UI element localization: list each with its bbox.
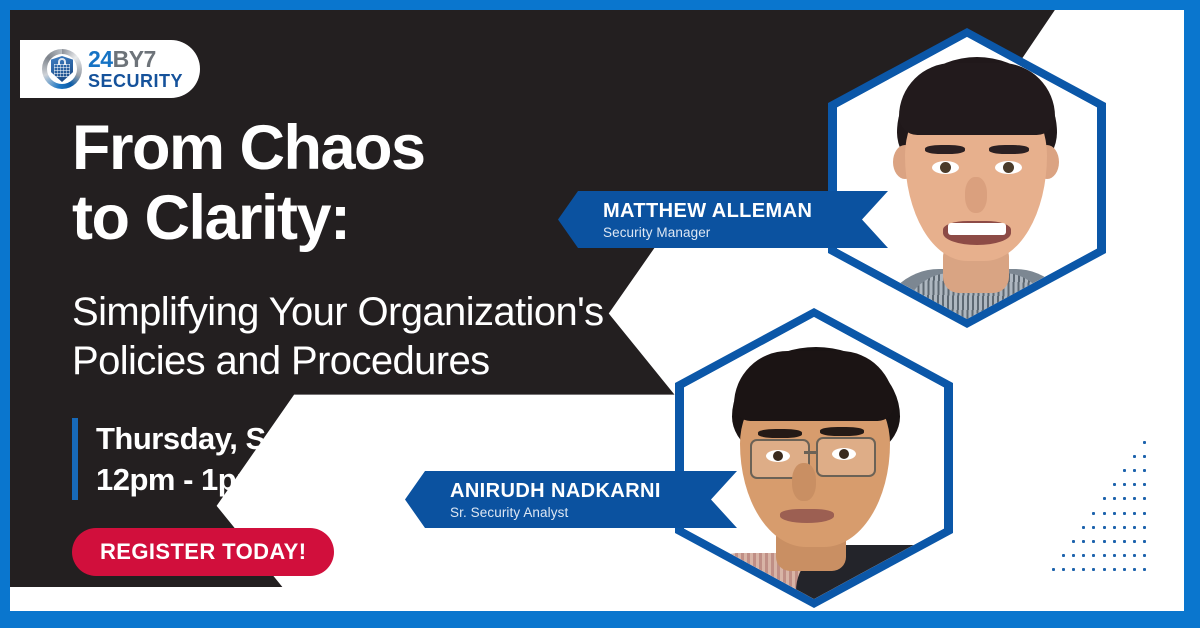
dot-row: [1048, 520, 1150, 534]
dot: [1133, 540, 1136, 543]
dot: [1143, 469, 1146, 472]
logo-wordmark: 24BY7 SECURITY: [88, 48, 183, 90]
dot: [1103, 540, 1106, 543]
dot: [1143, 526, 1146, 529]
dot: [1103, 512, 1106, 515]
dot: [1123, 483, 1126, 486]
logo-text-by7: BY7: [113, 46, 156, 72]
dot: [1113, 512, 1116, 515]
dot: [1072, 554, 1075, 557]
dot: [1092, 512, 1095, 515]
dot: [1113, 554, 1116, 557]
dot: [1133, 554, 1136, 557]
page-title: From Chaos to Clarity:: [72, 114, 712, 254]
dot: [1123, 554, 1126, 557]
dot: [1103, 568, 1106, 571]
dot-row: [1048, 563, 1150, 577]
dot: [1092, 568, 1095, 571]
subheadline-line-2: Policies and Procedures: [72, 337, 772, 386]
dot: [1062, 568, 1065, 571]
inner-panel: MATTHEW ALLEMAN Security Manager ANIRUDH…: [10, 10, 1184, 611]
dot: [1092, 526, 1095, 529]
dot: [1103, 526, 1106, 529]
dot: [1123, 512, 1126, 515]
dot: [1123, 568, 1126, 571]
dot: [1103, 554, 1106, 557]
dot-row: [1048, 435, 1150, 449]
dot: [1072, 540, 1075, 543]
subheadline-line-1: Simplifying Your Organization's: [72, 288, 772, 337]
dot: [1143, 554, 1146, 557]
dot: [1143, 483, 1146, 486]
dot: [1103, 497, 1106, 500]
dot: [1082, 526, 1085, 529]
speaker-2-name: ANIRUDH NADKARNI: [450, 480, 737, 503]
dot: [1143, 512, 1146, 515]
dot: [1113, 526, 1116, 529]
dot: [1143, 497, 1146, 500]
dot: [1133, 568, 1136, 571]
dot: [1143, 540, 1146, 543]
register-today-button[interactable]: REGISTER TODAY!: [72, 528, 334, 576]
speaker-1-photo: [837, 37, 1097, 319]
dot: [1143, 568, 1146, 571]
dot: [1092, 554, 1095, 557]
event-datetime: Thursday, September 28th 12pm - 1pm ET: [72, 418, 471, 500]
dot: [1123, 540, 1126, 543]
shield-lock-icon: [42, 49, 82, 89]
dot-row: [1048, 492, 1150, 506]
dot-row: [1048, 506, 1150, 520]
dot: [1072, 568, 1075, 571]
logo-text-24: 24: [88, 46, 113, 72]
headline-line-2: to Clarity:: [72, 184, 712, 254]
dot-row: [1048, 464, 1150, 478]
dot: [1113, 568, 1116, 571]
webinar-promo-banner: MATTHEW ALLEMAN Security Manager ANIRUDH…: [0, 0, 1200, 628]
dot-row: [1048, 478, 1150, 492]
logo-text-security: SECURITY: [88, 72, 183, 90]
headline-line-1: From Chaos: [72, 114, 712, 184]
dot-row: [1048, 449, 1150, 463]
dot-triangle-pattern: [1048, 435, 1150, 577]
dot: [1052, 568, 1055, 571]
event-time: 12pm - 1pm ET: [96, 459, 471, 500]
dot: [1133, 469, 1136, 472]
dot: [1133, 526, 1136, 529]
dot: [1113, 483, 1116, 486]
dot-row: [1048, 534, 1150, 548]
dot: [1082, 554, 1085, 557]
dot: [1143, 455, 1146, 458]
dot: [1113, 540, 1116, 543]
dot: [1123, 497, 1126, 500]
dot: [1113, 497, 1116, 500]
dot: [1133, 497, 1136, 500]
event-date: Thursday, September 28th: [96, 418, 471, 459]
dot: [1133, 455, 1136, 458]
page-subtitle: Simplifying Your Organization's Policies…: [72, 288, 772, 386]
dot: [1143, 441, 1146, 444]
dot: [1092, 540, 1095, 543]
dot: [1062, 554, 1065, 557]
dot-row: [1048, 549, 1150, 563]
speaker-2-role: Sr. Security Analyst: [450, 505, 737, 520]
avatar: [837, 37, 1097, 319]
dot: [1133, 483, 1136, 486]
brand-logo[interactable]: 24BY7 SECURITY: [20, 40, 200, 98]
dot: [1123, 469, 1126, 472]
dot: [1082, 568, 1085, 571]
dot: [1133, 512, 1136, 515]
dot: [1082, 540, 1085, 543]
dot: [1123, 526, 1126, 529]
